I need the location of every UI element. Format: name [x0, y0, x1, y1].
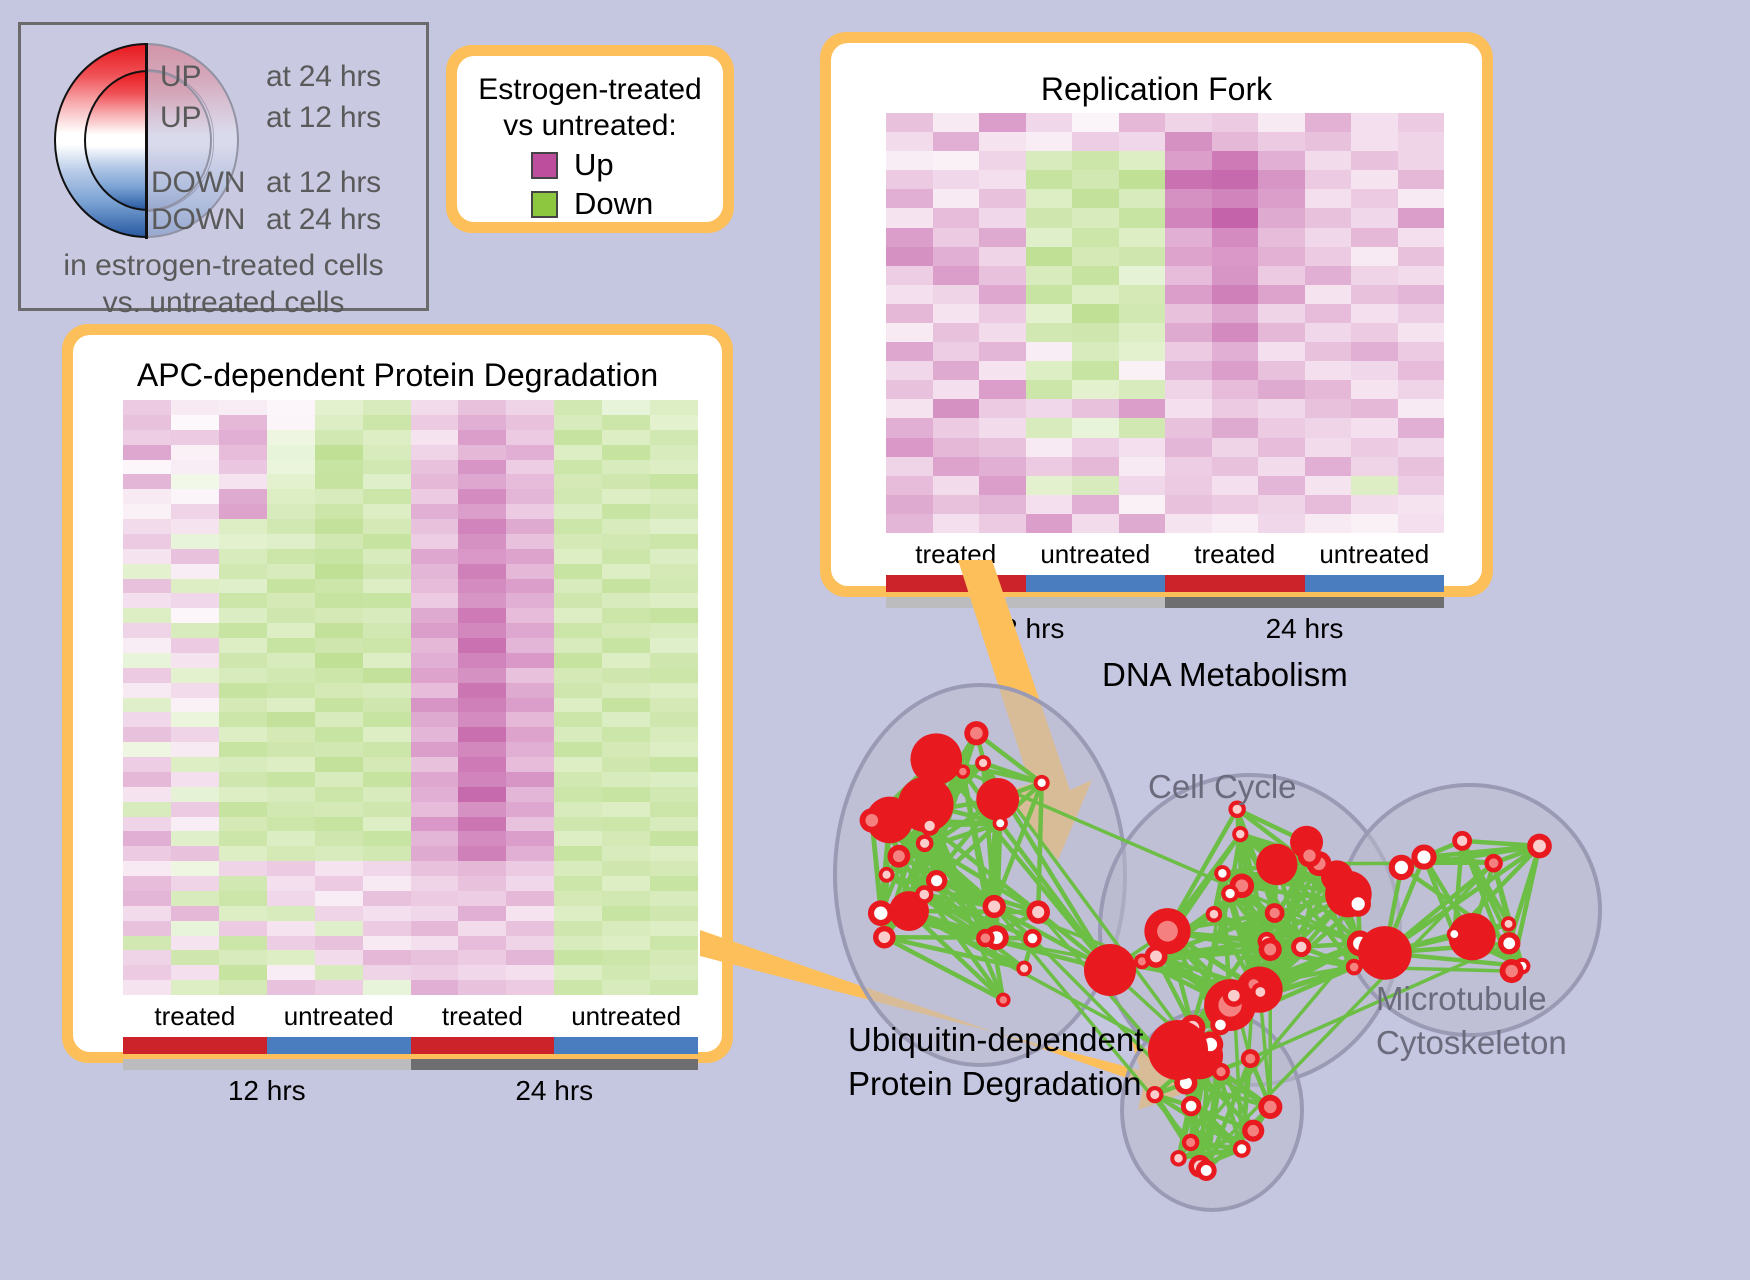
heatmap-cell — [1258, 514, 1305, 533]
heatmap-cell — [411, 430, 459, 445]
heatmap-cell — [554, 891, 602, 906]
heatmap-cell — [1212, 323, 1259, 342]
heatmap-cell — [267, 980, 315, 995]
heatmap-cell — [886, 266, 933, 285]
heatmap-cell — [602, 683, 650, 698]
heatmap-cell — [219, 772, 267, 787]
heatmap-cell — [1351, 495, 1398, 514]
network-node-core — [988, 900, 1000, 912]
legend-row-up-12-time: at 12 hrs — [266, 101, 381, 135]
heatmap-cell — [458, 668, 506, 683]
heatmap-cell — [411, 831, 459, 846]
heatmap-cell — [171, 846, 219, 861]
network-node-core — [931, 875, 942, 886]
heatmap-cell — [1072, 266, 1119, 285]
heatmap-cell — [458, 727, 506, 742]
heatmap-cell — [219, 921, 267, 936]
heatmap-cell — [315, 965, 363, 980]
heatmap-cell — [933, 208, 980, 227]
heatmap-cell — [219, 445, 267, 460]
heatmap-cell — [171, 668, 219, 683]
heatmap-cell — [267, 400, 315, 415]
heatmap-cell — [267, 489, 315, 504]
network-node-core — [996, 819, 1004, 827]
heatmap-cell — [1351, 342, 1398, 361]
heatmap-cell — [1305, 266, 1352, 285]
heatmap-cell — [1212, 361, 1259, 380]
heatmap-cell — [602, 415, 650, 430]
network-node[interactable] — [1148, 1020, 1208, 1080]
network-node-core — [1417, 851, 1430, 864]
heatmap-cell — [219, 504, 267, 519]
heatmap-cell — [1305, 189, 1352, 208]
heatmap-cell — [1072, 151, 1119, 170]
heatmap-cell — [363, 698, 411, 713]
heatmap-cell — [315, 593, 363, 608]
heatmap-cell — [554, 653, 602, 668]
heatmap-cell — [458, 891, 506, 906]
heatmap-cell — [123, 593, 171, 608]
network-node[interactable] — [1358, 926, 1412, 980]
heatmap-cell — [1072, 304, 1119, 323]
network-node-core — [1228, 990, 1240, 1002]
heatmap-cell — [506, 489, 554, 504]
heatmap-cell — [1119, 208, 1166, 227]
heatmap-cell — [1026, 304, 1073, 323]
heatmap-cell — [315, 504, 363, 519]
heatmap-cell — [123, 727, 171, 742]
heatmap-cell — [1165, 189, 1212, 208]
heatmap-cell — [1258, 285, 1305, 304]
heatmap-cell — [933, 170, 980, 189]
heatmap-cell — [363, 817, 411, 832]
heatmap-cell — [315, 489, 363, 504]
heatmap-cell — [650, 846, 698, 861]
heatmap-cell — [171, 936, 219, 951]
heatmap-cell — [219, 861, 267, 876]
heatmap-cell — [219, 965, 267, 980]
heatmap-cell — [315, 430, 363, 445]
heatmap-cell — [650, 891, 698, 906]
heatmap-cell — [506, 921, 554, 936]
heatmap-cell — [171, 980, 219, 995]
heatmap-cell — [1351, 285, 1398, 304]
heatmap-cell — [171, 534, 219, 549]
heatmap-cell — [1398, 304, 1445, 323]
heatmap-cell — [1119, 438, 1166, 457]
heatmap-cell — [171, 593, 219, 608]
heatmap-cell — [886, 495, 933, 514]
heatmap-cell — [363, 906, 411, 921]
heatmap-cell — [219, 698, 267, 713]
heatmap-cell — [1212, 380, 1259, 399]
network-node-core — [1201, 1165, 1212, 1176]
heatmap-cell — [1026, 132, 1073, 151]
heatmap-cell — [506, 534, 554, 549]
heatmap-cell — [1165, 247, 1212, 266]
heatmap-cell — [458, 415, 506, 430]
heatmap-cell — [458, 683, 506, 698]
heatmap-cell — [267, 638, 315, 653]
heatmap-cell — [650, 608, 698, 623]
network-node-core — [1216, 1067, 1225, 1076]
heatmap-cell — [886, 132, 933, 151]
heatmap-cell — [1119, 380, 1166, 399]
heatmap-cell — [506, 474, 554, 489]
heatmap-cell — [1165, 132, 1212, 151]
heatmap-cell — [315, 831, 363, 846]
network-node[interactable] — [910, 733, 962, 785]
heatmap-cell — [1351, 228, 1398, 247]
heatmap-cell — [650, 817, 698, 832]
heatmap-cell — [554, 906, 602, 921]
heatmap-cell — [1165, 438, 1212, 457]
heatmap-cell — [411, 623, 459, 638]
heatmap-cell — [171, 638, 219, 653]
heatmap-cell — [979, 228, 1026, 247]
network-node-core — [1000, 996, 1008, 1004]
heatmap-cell — [411, 921, 459, 936]
heatmap-cell — [979, 495, 1026, 514]
heatmap-cell — [1119, 170, 1166, 189]
heatmap-cell — [602, 727, 650, 742]
heatmap-cell — [123, 787, 171, 802]
network-node-core — [1215, 1020, 1226, 1031]
heatmap-cell — [171, 727, 219, 742]
heatmap-cell — [650, 727, 698, 742]
heatmap-cell — [458, 698, 506, 713]
heatmap-cell — [1212, 342, 1259, 361]
heatmap-cell — [506, 712, 554, 727]
heatmap-cell — [1305, 170, 1352, 189]
heatmap-cell — [1165, 418, 1212, 437]
heatmap-cell — [1072, 132, 1119, 151]
heatmap-cell — [315, 698, 363, 713]
heatmap-cell — [602, 549, 650, 564]
heatmap-cell — [1398, 113, 1445, 132]
network-node-core — [1457, 836, 1467, 846]
heatmap-cell — [363, 460, 411, 475]
heatmap-cell — [554, 698, 602, 713]
heatmap-cell — [171, 474, 219, 489]
heatmap-cell — [363, 727, 411, 742]
heatmap-cell — [554, 489, 602, 504]
heatmap-cell — [411, 772, 459, 787]
heatmap-cell — [411, 445, 459, 460]
heatmap-cell — [123, 921, 171, 936]
heatmap-cell — [458, 430, 506, 445]
heatmap-cell — [363, 772, 411, 787]
heatmap-cell — [1072, 457, 1119, 476]
heatmap-cell — [123, 460, 171, 475]
heatmap-cell — [1351, 189, 1398, 208]
heatmap-cell — [171, 921, 219, 936]
network-node-core — [970, 727, 983, 740]
legend-row-down-24-time: at 24 hrs — [266, 203, 381, 237]
heatmap-cell — [933, 476, 980, 495]
heatmap-cell — [458, 549, 506, 564]
heatmap-cell — [458, 817, 506, 832]
heatmap-cell — [602, 980, 650, 995]
heatmap-cell — [411, 504, 459, 519]
heatmap-cell — [1119, 132, 1166, 151]
heatmap-cell — [171, 608, 219, 623]
heatmap-cell — [650, 921, 698, 936]
heatmap-cell — [219, 489, 267, 504]
heatmap-cell — [1026, 438, 1073, 457]
heatmap-cell — [933, 457, 980, 476]
heatmap-cell — [1165, 304, 1212, 323]
heatmap-cell — [363, 593, 411, 608]
heatmap-cell — [1351, 132, 1398, 151]
heatmap-cell — [1165, 151, 1212, 170]
heatmap-cell — [554, 474, 602, 489]
heatmap-cell — [1072, 418, 1119, 437]
network-node-core — [1032, 906, 1044, 918]
heatmap-cell — [123, 891, 171, 906]
heatmap-cell — [411, 564, 459, 579]
heatmap-cell — [458, 653, 506, 668]
heatmap-cell — [886, 228, 933, 247]
heatmap-cell — [1165, 399, 1212, 418]
heatmap-cell — [1119, 418, 1166, 437]
heatmap-cell — [1119, 514, 1166, 533]
network-node[interactable] — [1256, 844, 1297, 885]
heatmap-cell — [602, 698, 650, 713]
heatmap-cell — [1398, 457, 1445, 476]
heatmap-cell — [650, 831, 698, 846]
heatmap-cell — [123, 623, 171, 638]
heatmap-cell — [1398, 495, 1445, 514]
heatmap-cell — [267, 846, 315, 861]
heatmap-cell — [1351, 113, 1398, 132]
heatmap-cell — [267, 817, 315, 832]
heatmap-cell — [267, 891, 315, 906]
heatmap-cell — [1212, 514, 1259, 533]
heatmap-cell — [506, 593, 554, 608]
heatmap-cell — [458, 742, 506, 757]
heatmap-cell — [602, 400, 650, 415]
network-node-core — [1352, 897, 1365, 910]
heatmap-cell — [315, 474, 363, 489]
heatmap-cell — [650, 623, 698, 638]
heatmap-cell — [650, 668, 698, 683]
heatmap-cell — [267, 653, 315, 668]
heatmap-cell — [267, 564, 315, 579]
legend-item-down: Down — [531, 186, 723, 222]
heatmap-cell — [123, 936, 171, 951]
heatmap-cell — [458, 846, 506, 861]
heatmap-cell — [650, 876, 698, 891]
network-node-core — [924, 821, 934, 831]
heatmap-cell — [1258, 361, 1305, 380]
heatmap-cell — [602, 950, 650, 965]
heatmap-cell — [1119, 399, 1166, 418]
heatmap-cell — [411, 519, 459, 534]
heatmap-cell — [1026, 514, 1073, 533]
heatmap-cell — [411, 906, 459, 921]
network-node-core — [1247, 1125, 1259, 1137]
heatmap-cell — [1119, 266, 1166, 285]
apc-group-labels: treated untreated treated untreated — [123, 1001, 698, 1032]
heatmap-cell — [411, 489, 459, 504]
heatmap-cell — [886, 323, 933, 342]
heatmap-cell — [315, 608, 363, 623]
heatmap-cell — [1258, 151, 1305, 170]
heatmap-cell — [458, 474, 506, 489]
heatmap-cell — [1072, 399, 1119, 418]
heatmap-cell — [650, 564, 698, 579]
heatmap-cell — [1165, 476, 1212, 495]
heatmap-cell — [411, 534, 459, 549]
heatmap-cell — [506, 772, 554, 787]
network-node-core — [979, 759, 987, 767]
heatmap-cell — [171, 653, 219, 668]
heatmap-cell — [1212, 132, 1259, 151]
heatmap-cell — [602, 564, 650, 579]
heatmap-cell — [219, 757, 267, 772]
network-node[interactable] — [1084, 944, 1136, 996]
heatmap-cell — [506, 564, 554, 579]
network-node-core — [1236, 830, 1244, 838]
heatmap-cell — [1258, 132, 1305, 151]
heatmap-cell — [602, 817, 650, 832]
heatmap-cell — [123, 965, 171, 980]
heatmap-cell — [1398, 208, 1445, 227]
heatmap-cell — [363, 474, 411, 489]
apc-time-bar — [123, 1059, 698, 1070]
network-node-core — [1505, 965, 1518, 978]
heatmap-cell — [506, 400, 554, 415]
heatmap-cell — [171, 787, 219, 802]
heatmap-cell — [1165, 495, 1212, 514]
heatmap-cell — [171, 817, 219, 832]
heatmap-cell — [411, 876, 459, 891]
heatmap-cell — [315, 787, 363, 802]
heatmap-cell — [1072, 323, 1119, 342]
heatmap-cell — [1305, 514, 1352, 533]
heatmap-cell — [219, 623, 267, 638]
heatmap-cell — [979, 457, 1026, 476]
heatmap-cell — [315, 638, 363, 653]
heatmap-cell — [650, 579, 698, 594]
heatmap-cell — [219, 430, 267, 445]
network-node[interactable] — [976, 778, 1019, 821]
heatmap-cell — [315, 817, 363, 832]
heatmap-cell — [1026, 170, 1073, 189]
heatmap-cell — [554, 831, 602, 846]
heatmap-cell — [219, 668, 267, 683]
heatmap-cell — [1398, 438, 1445, 457]
heatmap-cell — [315, 772, 363, 787]
heatmap-cell — [650, 980, 698, 995]
heatmap-cell — [363, 846, 411, 861]
heatmap-cell — [1119, 285, 1166, 304]
heatmap-cell — [554, 965, 602, 980]
heatmap-cell — [1398, 132, 1445, 151]
heatmap-cell — [411, 460, 459, 475]
heatmap-cell — [650, 757, 698, 772]
rf-group-3: untreated — [1305, 539, 1445, 570]
cluster-label-microtubule: Microtubule Cytoskeleton — [1376, 977, 1567, 1065]
pathway-network-diagram: DNA Metabolism Cell Cycle Microtubule Cy… — [780, 620, 1740, 1275]
heatmap-cell — [123, 638, 171, 653]
heatmap-cell — [123, 489, 171, 504]
heatmap-cell — [1258, 476, 1305, 495]
heatmap-cell — [219, 802, 267, 817]
heatmap-cell — [650, 936, 698, 951]
network-node-core — [1264, 1101, 1277, 1114]
heatmap-cell — [650, 712, 698, 727]
heatmap-cell — [602, 608, 650, 623]
heatmap-cell — [1072, 514, 1119, 533]
heatmap-cell — [1305, 380, 1352, 399]
apc-title: APC-dependent Protein Degradation — [73, 357, 722, 394]
heatmap-cell — [363, 831, 411, 846]
heatmap-cell — [171, 906, 219, 921]
heatmap-cell — [1212, 304, 1259, 323]
heatmap-cell — [506, 460, 554, 475]
network-node-core — [1296, 942, 1307, 953]
network-node-core — [1489, 858, 1499, 868]
heatmap-cell — [458, 638, 506, 653]
heatmap-cell — [933, 304, 980, 323]
heatmap-cell — [554, 787, 602, 802]
heatmap-cell — [602, 757, 650, 772]
heatmap-cell — [171, 623, 219, 638]
heatmap-cell — [602, 460, 650, 475]
heatmap-cell — [123, 683, 171, 698]
heatmap-cell — [1072, 361, 1119, 380]
heatmap-cell — [171, 489, 219, 504]
heatmap-cell — [315, 564, 363, 579]
heatmap-cell — [1026, 228, 1073, 247]
heatmap-cell — [411, 579, 459, 594]
heatmap-cell — [315, 623, 363, 638]
heatmap-cell — [363, 668, 411, 683]
heatmap-cell — [1165, 323, 1212, 342]
heatmap-cell — [554, 727, 602, 742]
heatmap-cell — [458, 489, 506, 504]
heatmap-cell — [602, 668, 650, 683]
heatmap-cell — [267, 593, 315, 608]
heatmap-cell — [650, 474, 698, 489]
heatmap-cell — [554, 415, 602, 430]
heatmap-cell — [1351, 476, 1398, 495]
heatmap-cell — [650, 593, 698, 608]
apc-bar-untreated-24 — [554, 1037, 698, 1054]
heatmap-cell — [1026, 151, 1073, 170]
heatmap-cell — [123, 906, 171, 921]
heatmap-cell — [886, 208, 933, 227]
heatmap-cell — [1351, 323, 1398, 342]
heatmap-cell — [1305, 304, 1352, 323]
circle-color-legend: UP at 24 hrs UP at 12 hrs DOWN at 12 hrs… — [18, 22, 429, 311]
network-node-core — [1157, 921, 1178, 942]
legend-row-down-24: DOWN — [151, 203, 245, 237]
heatmap-cell — [1072, 438, 1119, 457]
heatmap-cell — [1119, 228, 1166, 247]
replication-fork-title: Replication Fork — [831, 71, 1482, 108]
apc-group-3: untreated — [554, 1001, 698, 1032]
heatmap-cell — [267, 415, 315, 430]
heatmap-cell — [650, 504, 698, 519]
heatmap-cell — [171, 891, 219, 906]
heatmap-cell — [1305, 285, 1352, 304]
heatmap-cell — [315, 861, 363, 876]
heatmap-cell — [1351, 266, 1398, 285]
network-node-core — [1533, 840, 1546, 853]
